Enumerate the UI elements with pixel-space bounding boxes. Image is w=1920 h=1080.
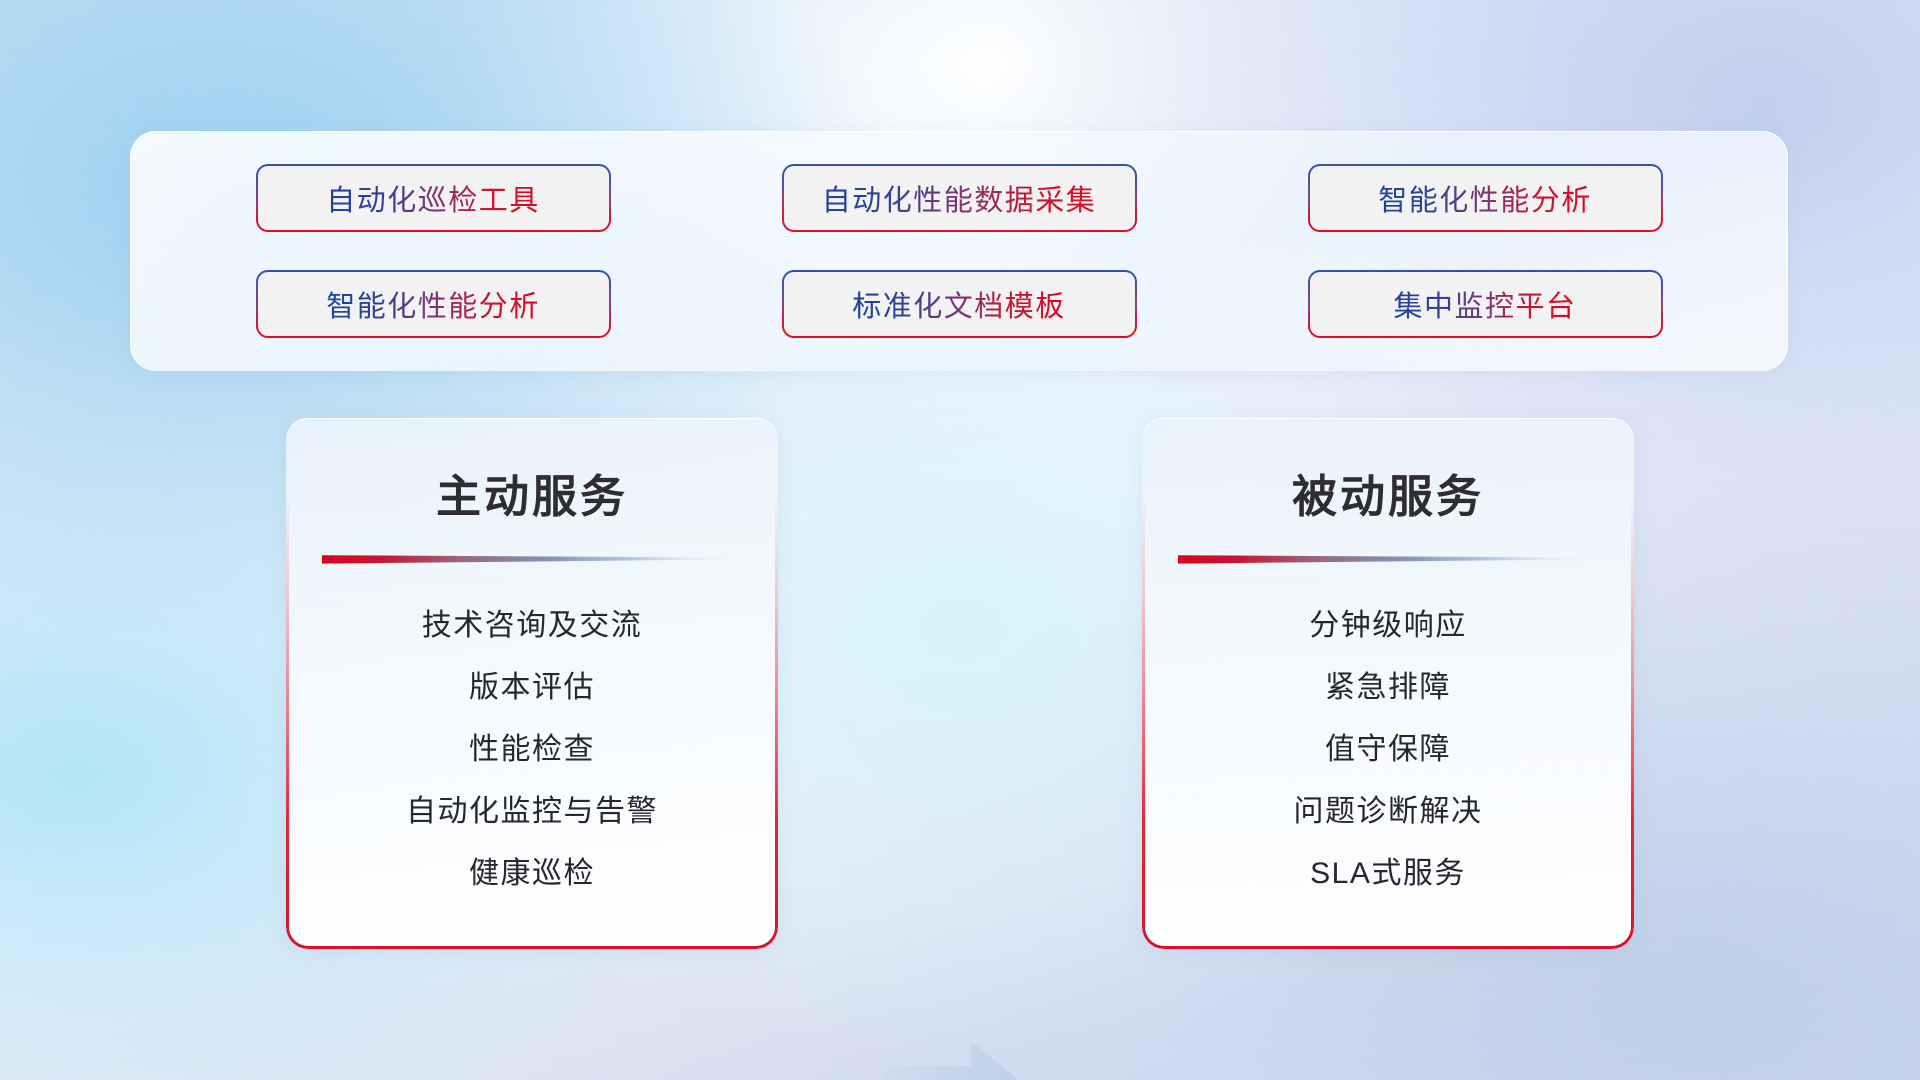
- card-divider: [322, 553, 742, 565]
- capability-pill-1[interactable]: 自动化巡检工具: [256, 164, 611, 232]
- card-item-list: 分钟级响应 紧急排障 值守保障 问题诊断解决 SLA式服务: [1176, 595, 1600, 905]
- list-item: 问题诊断解决: [1176, 781, 1600, 843]
- card-title: 主动服务: [320, 460, 744, 525]
- service-card-proactive[interactable]: 主动服务: [286, 418, 778, 949]
- capability-pill-label: 智能化性能分析: [1378, 177, 1592, 219]
- capability-pill-label: 智能化性能分析: [326, 283, 540, 325]
- slide-canvas: 自动化巡检工具 自动化性能数据采集 智能化性能分析 智能化性能分析 标准化文档模…: [0, 0, 1920, 1080]
- arrow-right-icon: [874, 1040, 1040, 1080]
- card-title: 被动服务: [1176, 460, 1600, 525]
- capabilities-panel: 自动化巡检工具 自动化性能数据采集 智能化性能分析 智能化性能分析 标准化文档模…: [130, 131, 1788, 371]
- capability-pill-label: 自动化巡检工具: [326, 177, 540, 219]
- list-item: SLA式服务: [1176, 843, 1600, 905]
- capability-pill-label: 自动化性能数据采集: [822, 177, 1097, 219]
- capability-pill-5[interactable]: 标准化文档模板: [782, 270, 1137, 338]
- list-item: 性能检查: [320, 719, 744, 781]
- list-item: 分钟级响应: [1176, 595, 1600, 657]
- list-item: 紧急排障: [1176, 657, 1600, 719]
- capability-pill-label: 集中监控平台: [1393, 283, 1576, 325]
- list-item: 版本评估: [320, 657, 744, 719]
- capability-pill-2[interactable]: 自动化性能数据采集: [782, 164, 1137, 232]
- list-item: 健康巡检: [320, 843, 744, 905]
- service-cards-row: 主动服务: [0, 418, 1920, 958]
- capability-pill-3[interactable]: 智能化性能分析: [1308, 164, 1663, 232]
- service-card-reactive[interactable]: 被动服务: [1142, 418, 1634, 949]
- capability-pill-label: 标准化文档模板: [852, 283, 1066, 325]
- list-item: 技术咨询及交流: [320, 595, 744, 657]
- list-item: 自动化监控与告警: [320, 781, 744, 843]
- capability-pill-4[interactable]: 智能化性能分析: [256, 270, 611, 338]
- capability-pill-6[interactable]: 集中监控平台: [1308, 270, 1663, 338]
- card-divider: [1178, 553, 1598, 565]
- list-item: 值守保障: [1176, 719, 1600, 781]
- card-item-list: 技术咨询及交流 版本评估 性能检查 自动化监控与告警 健康巡检: [320, 595, 744, 905]
